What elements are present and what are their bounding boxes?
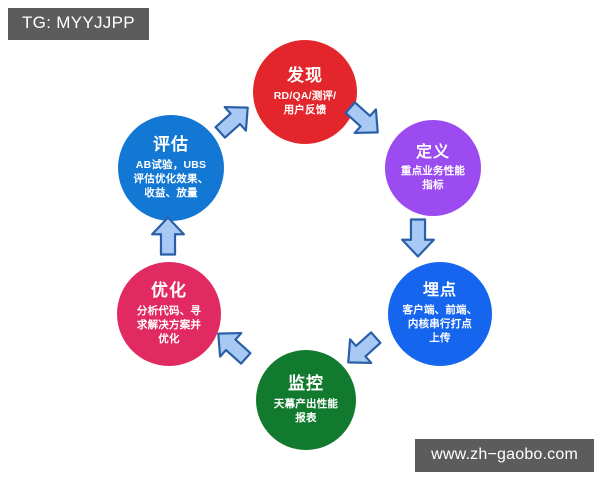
cycle-node-discover-desc: RD/QA/测评/ 用户反馈 — [274, 89, 336, 117]
arrow-down-icon-define-to-track — [396, 216, 440, 260]
cycle-node-track: 埋点 客户端、前端、 内核串行打点 上传 — [388, 262, 492, 366]
cycle-node-track-desc: 客户端、前端、 内核串行打点 上传 — [403, 303, 478, 346]
cycle-node-discover-title: 发现 — [287, 67, 323, 86]
site-watermark: www.zh−gaobo.com — [415, 439, 594, 472]
performance-optimization-cycle-diagram: 发现 RD/QA/测评/ 用户反馈 定义 重点业务性能 指标 埋点 客户端、前端… — [0, 0, 600, 480]
cycle-node-optimize-title: 优化 — [151, 282, 187, 301]
cycle-node-define-title: 定义 — [416, 144, 450, 162]
cycle-node-track-title: 埋点 — [423, 282, 457, 300]
cycle-node-evaluate: 评估 AB试验，UBS 评估优化效果、 收益、放量 — [118, 115, 224, 221]
cycle-node-define-desc: 重点业务性能 指标 — [401, 164, 465, 192]
cycle-node-monitor-desc: 天幕产出性能 报表 — [274, 397, 338, 425]
cycle-node-monitor-title: 监控 — [288, 375, 324, 394]
cycle-node-define: 定义 重点业务性能 指标 — [385, 120, 481, 216]
cycle-node-evaluate-title: 评估 — [153, 136, 189, 155]
cycle-node-optimize-desc: 分析代码、寻 求解决方案并 优化 — [137, 304, 201, 347]
cycle-node-evaluate-desc: AB试验，UBS 评估优化效果、 收益、放量 — [134, 158, 209, 201]
arrow-up-icon-optimize-to-evaluate — [146, 214, 190, 258]
cycle-node-monitor: 监控 天幕产出性能 报表 — [256, 350, 356, 450]
